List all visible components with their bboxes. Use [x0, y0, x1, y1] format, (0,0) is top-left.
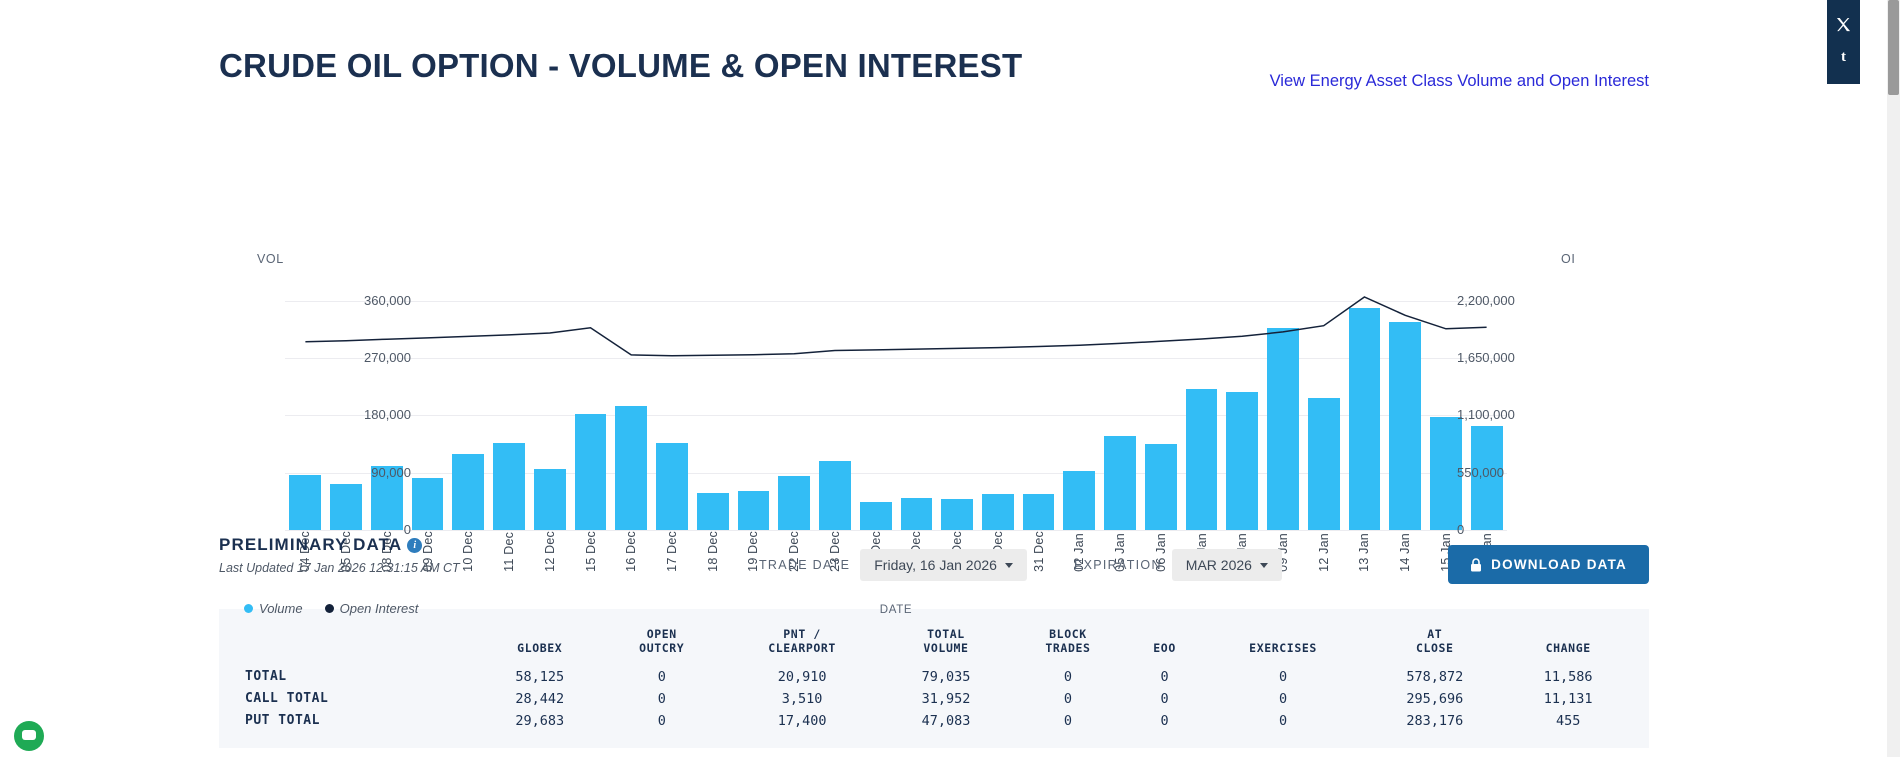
- chevron-down-icon: [1260, 563, 1268, 568]
- table-cell: 295,696: [1364, 688, 1505, 710]
- lock-icon: [1470, 558, 1482, 572]
- table-column-header: TOTAL VOLUME: [883, 623, 1009, 666]
- table-column-header: BLOCK TRADES: [1009, 623, 1127, 666]
- y-axis-left-tick: 270,000: [301, 350, 411, 365]
- table-column-header: EOO: [1127, 623, 1202, 666]
- table-cell: 47,083: [883, 710, 1009, 732]
- y-axis-right-tick: 550,000: [1457, 465, 1577, 480]
- table-cell: 31,952: [883, 688, 1009, 710]
- totals-table: GLOBEXOPEN OUTCRYPNT / CLEARPORTTOTAL VO…: [237, 623, 1631, 732]
- y-axis-title-oi: OI: [1561, 252, 1575, 266]
- x-axis-title: DATE: [285, 604, 1507, 616]
- table-cell: 0: [603, 666, 721, 688]
- y-axis-right-tick: 1,100,000: [1457, 407, 1577, 422]
- trade-date-control: TRADE DATE Friday, 16 Jan 2026: [759, 549, 1027, 581]
- table-cell: 58,125: [477, 666, 603, 688]
- page-header: CRUDE OIL OPTION - VOLUME & OPEN INTERES…: [219, 0, 1649, 104]
- info-icon[interactable]: i: [407, 538, 422, 553]
- table-cell: 578,872: [1364, 666, 1505, 688]
- totals-table-container: GLOBEXOPEN OUTCRYPNT / CLEARPORTTOTAL VO…: [219, 609, 1649, 748]
- table-cell: 11,586: [1505, 666, 1631, 688]
- table-column-header: OPEN OUTCRY: [603, 623, 721, 666]
- legend-swatch-volume: [244, 604, 253, 613]
- trade-date-value: Friday, 16 Jan 2026: [874, 557, 997, 573]
- table-cell: 455: [1505, 710, 1631, 732]
- table-cell: 28,442: [477, 688, 603, 710]
- tumblr-icon[interactable]: t: [1827, 41, 1860, 74]
- open-interest-polyline: [305, 297, 1486, 356]
- table-cell: 0: [603, 688, 721, 710]
- table-cell: 0: [1202, 666, 1364, 688]
- view-energy-asset-class-link[interactable]: View Energy Asset Class Volume and Open …: [1270, 72, 1649, 91]
- main-content: CRUDE OIL OPTION - VOLUME & OPEN INTERES…: [219, 0, 1649, 748]
- y-axis-title-vol: VOL: [257, 252, 284, 266]
- scrollbar-thumb[interactable]: [1888, 0, 1899, 95]
- chevron-down-icon: [1005, 563, 1013, 568]
- table-column-header: EXERCISES: [1202, 623, 1364, 666]
- table-cell: 3,510: [721, 688, 883, 710]
- y-axis-right-tick: 1,650,000: [1457, 350, 1577, 365]
- y-axis-left-tick: 360,000: [301, 293, 411, 308]
- expiration-control: EXPIRATION MAR 2026: [1074, 549, 1282, 581]
- y-axis-right-tick: 2,200,000: [1457, 293, 1577, 308]
- preliminary-data-title: PRELIMINARY DATA: [219, 535, 402, 555]
- table-column-header: [237, 623, 477, 666]
- last-updated-text: Last Updated 17 Jan 2026 12:31:15 AM CT: [219, 561, 460, 575]
- table-row-label: TOTAL: [237, 666, 477, 688]
- download-data-button[interactable]: DOWNLOAD DATA: [1448, 545, 1649, 584]
- table-row-label: CALL TOTAL: [237, 688, 477, 710]
- table-cell: 20,910: [721, 666, 883, 688]
- y-axis-left-tick: 180,000: [301, 407, 411, 422]
- table-column-header: GLOBEX: [477, 623, 603, 666]
- y-axis-left-tick: 90,000: [301, 465, 411, 480]
- social-share-rail: t: [1827, 0, 1860, 84]
- expiration-label: EXPIRATION: [1074, 558, 1162, 572]
- x-twitter-icon[interactable]: [1827, 8, 1860, 41]
- x-glyph: [1836, 17, 1851, 32]
- expiration-select[interactable]: MAR 2026: [1172, 549, 1282, 581]
- table-cell: 0: [1127, 710, 1202, 732]
- table-column-header: AT CLOSE: [1364, 623, 1505, 666]
- table-cell: 0: [1009, 666, 1127, 688]
- table-cell: 79,035: [883, 666, 1009, 688]
- table-cell: 29,683: [477, 710, 603, 732]
- table-row-label: PUT TOTAL: [237, 710, 477, 732]
- table-body: TOTAL58,125020,91079,035000578,87211,586…: [237, 666, 1631, 732]
- table-cell: 0: [1127, 666, 1202, 688]
- table-cell: 0: [1127, 688, 1202, 710]
- table-cell: 17,400: [721, 710, 883, 732]
- table-cell: 0: [603, 710, 721, 732]
- trade-date-label: TRADE DATE: [759, 558, 850, 572]
- volume-open-interest-chart: VOL OI 090,000180,000270,000360,000 0550…: [219, 104, 1649, 508]
- table-row: PUT TOTAL29,683017,40047,083000283,17645…: [237, 710, 1631, 732]
- preliminary-data-block: PRELIMINARY DATAi Last Updated 17 Jan 20…: [219, 535, 460, 575]
- chart-plot-area: [285, 272, 1507, 530]
- table-column-header: CHANGE: [1505, 623, 1631, 666]
- table-cell: 0: [1202, 688, 1364, 710]
- trade-date-select[interactable]: Friday, 16 Jan 2026: [860, 549, 1027, 581]
- table-cell: 0: [1009, 688, 1127, 710]
- table-row: TOTAL58,125020,91079,035000578,87211,586: [237, 666, 1631, 688]
- table-cell: 11,131: [1505, 688, 1631, 710]
- table-cell: 283,176: [1364, 710, 1505, 732]
- open-interest-line: [285, 272, 1507, 530]
- page-title: CRUDE OIL OPTION - VOLUME & OPEN INTERES…: [219, 47, 1022, 85]
- controls-row: PRELIMINARY DATAi Last Updated 17 Jan 20…: [219, 535, 1649, 597]
- chat-widget-button[interactable]: [14, 721, 44, 751]
- table-column-header: PNT / CLEARPORT: [721, 623, 883, 666]
- table-cell: 0: [1202, 710, 1364, 732]
- table-row: CALL TOTAL28,44203,51031,952000295,69611…: [237, 688, 1631, 710]
- expiration-value: MAR 2026: [1186, 557, 1252, 573]
- page-root: CRUDE OIL OPTION - VOLUME & OPEN INTERES…: [0, 0, 1880, 757]
- download-data-label: DOWNLOAD DATA: [1491, 557, 1627, 572]
- table-cell: 0: [1009, 710, 1127, 732]
- page-scrollbar[interactable]: [1887, 0, 1900, 757]
- table-header-row: GLOBEXOPEN OUTCRYPNT / CLEARPORTTOTAL VO…: [237, 623, 1631, 666]
